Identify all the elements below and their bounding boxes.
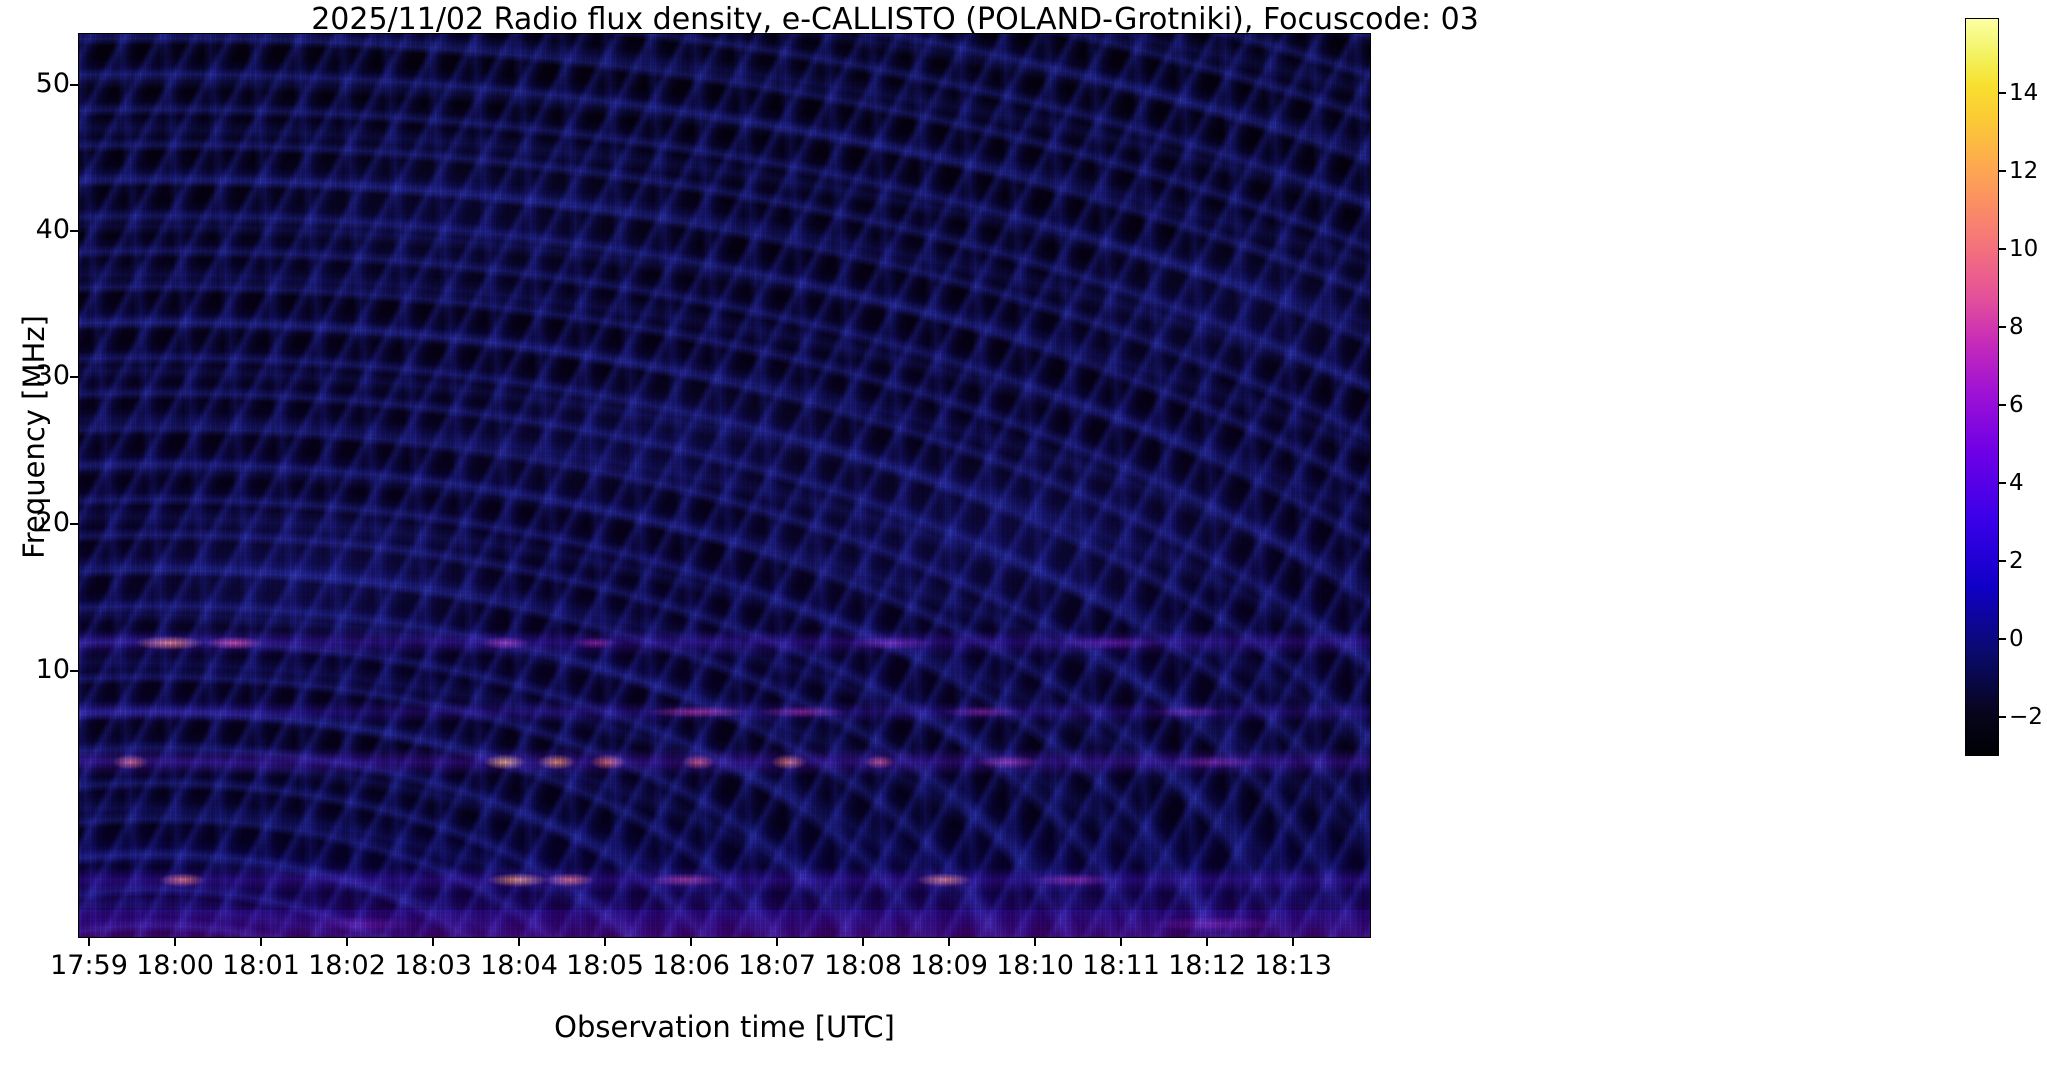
colorbar-tick-label: 2: [2009, 548, 2024, 574]
y-tick-mark: [70, 523, 78, 525]
x-tick-label: 18:13: [1254, 950, 1332, 981]
spectrogram-diagonal-fringes-b: [79, 34, 1370, 937]
x-tick-label: 18:01: [222, 950, 300, 981]
y-axis-label: Frequency [MHz]: [17, 227, 51, 647]
colorbar-tick-label: 4: [2009, 470, 2024, 496]
y-tick-mark: [70, 84, 78, 86]
x-tick-mark: [1206, 938, 1208, 946]
x-tick-mark: [862, 938, 864, 946]
colorbar[interactable]: [1965, 18, 1999, 756]
colorbar-tick-mark: [1999, 92, 2006, 94]
spectrogram-intensity-blobs: [79, 34, 1370, 937]
colorbar-tick-label: 12: [2009, 158, 2038, 184]
x-tick-label: 18:07: [738, 950, 816, 981]
x-tick-label: 18:12: [1168, 950, 1246, 981]
rfi-band-10mhz: [79, 748, 1370, 776]
x-tick-label: 18:00: [136, 950, 214, 981]
x-tick-mark: [948, 938, 950, 946]
x-tick-label: 18:05: [566, 950, 644, 981]
x-tick-mark: [346, 938, 348, 946]
spectrogram-time-sample-noise: [79, 34, 1370, 937]
colorbar-tick-label: 14: [2009, 80, 2038, 106]
x-tick-mark: [432, 938, 434, 946]
x-tick-mark: [690, 938, 692, 946]
spectrogram-figure: 2025/11/02 Radio flux density, e-CALLIST…: [0, 0, 2047, 1067]
colorbar-tick-label: 0: [2009, 626, 2024, 652]
x-tick-label: 18:03: [394, 950, 472, 981]
spectrogram-diagonal-fringes-a: [79, 34, 1370, 937]
x-tick-label: 18:04: [480, 950, 558, 981]
x-tick-label: 18:06: [652, 950, 730, 981]
x-tick-mark: [1034, 938, 1036, 946]
colorbar-tick-mark: [1999, 170, 2006, 172]
rfi-band-11mhz: [79, 701, 1370, 723]
x-tick-label: 18:10: [996, 950, 1074, 981]
colorbar-tick-mark: [1999, 560, 2006, 562]
colorbar-tick-mark: [1999, 248, 2006, 250]
x-tick-mark: [604, 938, 606, 946]
x-tick-mark: [174, 938, 176, 946]
colorbar-tick-mark: [1999, 404, 2006, 406]
x-tick-mark: [776, 938, 778, 946]
x-axis-label: Observation time [UTC]: [78, 1010, 1371, 1044]
spectrogram-arc-fringes-wide: [79, 34, 1370, 937]
colorbar-tick-mark: [1999, 716, 2006, 718]
x-tick-label: 18:08: [824, 950, 902, 981]
x-tick-mark: [1120, 938, 1122, 946]
colorbar-tick-mark: [1999, 482, 2006, 484]
x-tick-label: 18:11: [1082, 950, 1160, 981]
x-tick-mark: [518, 938, 520, 946]
colorbar-tick-label: −2: [2009, 704, 2043, 730]
x-tick-mark: [88, 938, 90, 946]
x-tick-label: 17:59: [50, 950, 128, 981]
page-title: 2025/11/02 Radio flux density, e-CALLIST…: [0, 2, 1790, 37]
spectrogram-arc-fringes: [79, 34, 1370, 937]
rfi-band-7mhz: [79, 867, 1370, 893]
y-tick-mark: [70, 670, 78, 672]
y-tick-label: 50: [0, 68, 70, 99]
colorbar-tick-mark: [1999, 638, 2006, 640]
x-tick-mark: [260, 938, 262, 946]
x-tick-mark: [1292, 938, 1294, 946]
spectrogram-channel-noise: [79, 34, 1370, 937]
colorbar-tick-mark: [1999, 326, 2006, 328]
spectrogram-plot-area[interactable]: [78, 33, 1371, 938]
colorbar-tick-label: 8: [2009, 314, 2024, 340]
colorbar-tick-label: 10: [2009, 236, 2038, 262]
rfi-band-bottom-edge: [79, 910, 1370, 938]
x-tick-label: 18:02: [308, 950, 386, 981]
y-tick-mark: [70, 376, 78, 378]
colorbar-tick-label: 6: [2009, 392, 2024, 418]
x-tick-label: 18:09: [910, 950, 988, 981]
y-tick-mark: [70, 230, 78, 232]
rfi-band-15mhz: [79, 630, 1370, 656]
y-tick-label: 10: [0, 654, 70, 685]
spectrogram-base-layer: [79, 34, 1370, 937]
